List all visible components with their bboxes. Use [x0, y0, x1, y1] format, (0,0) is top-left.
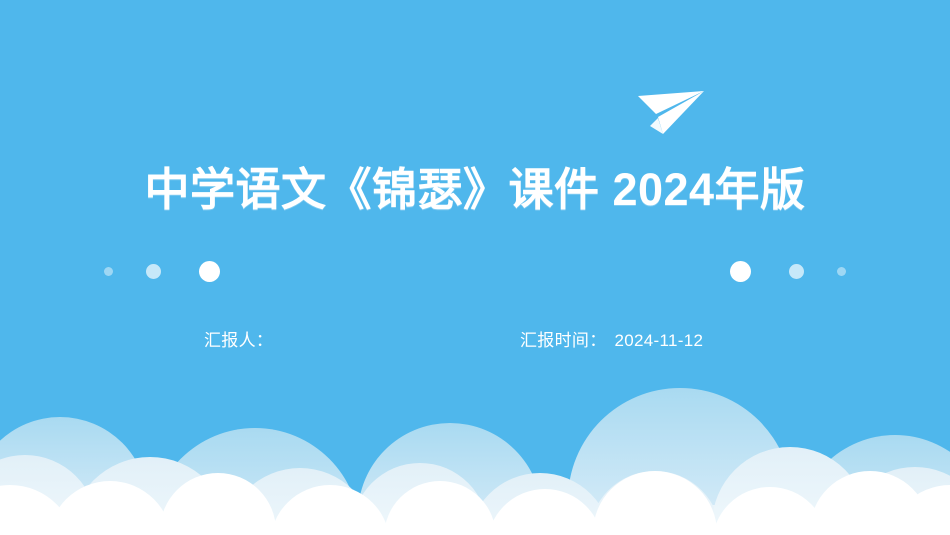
date-label: 汇报时间：	[520, 331, 607, 350]
decor-dot-large	[730, 261, 751, 282]
decor-dot-small	[837, 267, 846, 276]
cloud-layer-back	[0, 388, 950, 535]
decor-dot-medium	[789, 264, 804, 279]
slide-meta: 汇报人： 汇报时间：2024-11-12	[0, 327, 950, 355]
page-title: 中学语文《锦瑟》课件 2024年版	[0, 154, 950, 227]
cloud-decoration	[0, 355, 950, 535]
decor-dot-large	[199, 261, 220, 282]
presenter-field: 汇报人：	[204, 327, 281, 355]
date-field: 汇报时间：2024-11-12	[520, 327, 703, 355]
decor-dots-left	[104, 258, 220, 284]
presentation-cover-slide: 中学语文《锦瑟》课件 2024年版 汇报人： 汇报时间：2024-11-12	[0, 0, 950, 535]
presenter-label: 汇报人：	[204, 331, 273, 350]
cloud-layer-front	[0, 471, 950, 535]
decor-dot-small	[104, 267, 113, 276]
date-value: 2024-11-12	[615, 331, 704, 350]
paper-plane-icon	[636, 88, 706, 136]
cloud-layer-middle	[0, 447, 950, 535]
decor-dot-medium	[146, 264, 161, 279]
decor-dots-right	[730, 258, 846, 284]
